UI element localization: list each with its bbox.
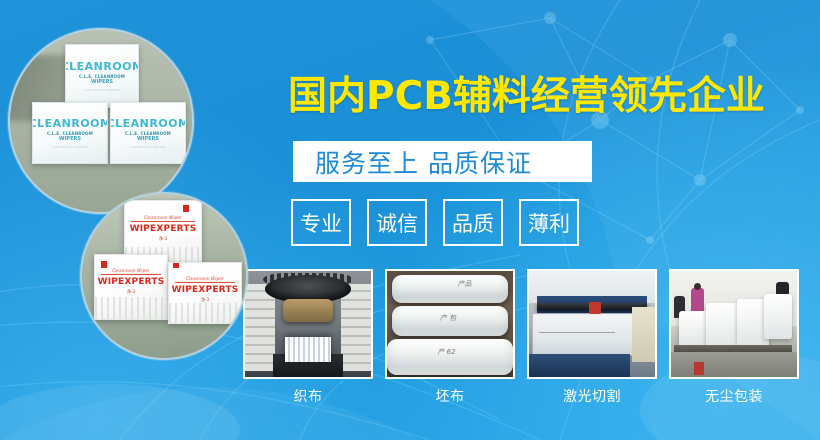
thumbnail-image-knitting-machine (243, 269, 373, 379)
pack-fine-print: CLEANROOM WIPERS (52, 145, 89, 149)
wipexperts-brand-label: WIPEXPERTS (95, 277, 167, 287)
keyword-box-3: 品质 (443, 199, 503, 246)
keyword-box-2: 诚信 (367, 199, 427, 246)
thumbnail-cell-cleanroom-packing: 无尘包装 (669, 269, 799, 406)
thumbnail-caption: 激光切割 (527, 386, 657, 406)
thumbnail-cell-laser-cutting: 激光切割 (527, 269, 657, 406)
pack-fine-print: CLEANROOM WIPERS (130, 145, 167, 149)
thumbnail-image-laser-cutter (527, 269, 657, 379)
keyword-box-1: 专业 (291, 199, 351, 246)
slogan-text: 服务至上 品质保证 (315, 144, 532, 180)
thumbnail-cell-weaving: 织布 (243, 269, 373, 406)
cleanroom-pack: CLEANROOM C.L.E. CLEANROOM WIPERS CLEANR… (110, 102, 186, 164)
pack-subline-2: WIPERS (59, 136, 81, 142)
thumbnail-caption: 无尘包装 (669, 386, 799, 406)
thumbnail-image-fabric-rolls: 产品 产 包 产 62 (385, 269, 515, 379)
promotional-banner: CLEANROOM C.L.E. CLEANROOM WIPERS CLEANR… (0, 0, 820, 440)
keyword-box-group: 专业 诚信 品质 薄利 (291, 199, 579, 246)
cleanroom-pack: CLEANROOM C.L.E. CLEANROOM WIPERS CLEANR… (32, 102, 108, 164)
wipexperts-top-line: Cleanroom Wiper (95, 268, 167, 273)
wipexperts-pack: Cleanroom Wiper WIPEXPERTS 净-3 (168, 262, 242, 324)
product-photo-cleanroom-wipes: CLEANROOM C.L.E. CLEANROOM WIPERS CLEANR… (8, 28, 194, 214)
pack-brand-label: CLEANROOM (110, 118, 186, 129)
keyword-label: 专业 (300, 208, 342, 238)
pack-brand-label: CLEANROOM (32, 118, 108, 129)
process-thumbnail-strip: 织布 产品 产 包 产 62 坯布 (243, 269, 799, 406)
pack-subline-2: WIPERS (91, 79, 113, 85)
wipexperts-mark-label: 净-3 (125, 236, 201, 242)
thumbnail-caption: 织布 (243, 386, 373, 406)
thumbnail-caption: 坯布 (385, 386, 515, 406)
wipexperts-mark-label: 净-3 (95, 289, 167, 295)
banner-headline: 国内PCB辅料经营领先企业 (288, 76, 765, 119)
keyword-label: 薄利 (528, 208, 570, 238)
wipexperts-top-line: Cleanroom Wiper (169, 276, 241, 281)
slogan-bar: 服务至上 品质保证 (293, 141, 592, 182)
pack-fine-print: CLEANROOM WIPERS (84, 88, 121, 92)
keyword-label: 品质 (452, 208, 494, 238)
wipexperts-brand-label: WIPEXPERTS (169, 285, 241, 295)
product-photo-wipexperts-packs: Cleanroom Wiper WIPEXPERTS 净-3 Cleanroom… (80, 192, 248, 360)
thumbnail-cell-greige-fabric: 产品 产 包 产 62 坯布 (385, 269, 515, 406)
keyword-label: 诚信 (376, 208, 418, 238)
wipexperts-brand-label: WIPEXPERTS (125, 224, 201, 234)
pack-brand-label: CLEANROOM (65, 61, 139, 72)
cleanroom-pack: CLEANROOM C.L.E. CLEANROOM WIPERS CLEANR… (65, 44, 139, 108)
wipexperts-top-line: Cleanroom Wiper (125, 215, 201, 220)
wipexperts-pack: Cleanroom Wiper WIPEXPERTS 净-3 (94, 254, 168, 320)
pack-subline-2: WIPERS (137, 136, 159, 142)
keyword-box-4: 薄利 (519, 199, 579, 246)
thumbnail-image-packing-station (669, 269, 799, 379)
